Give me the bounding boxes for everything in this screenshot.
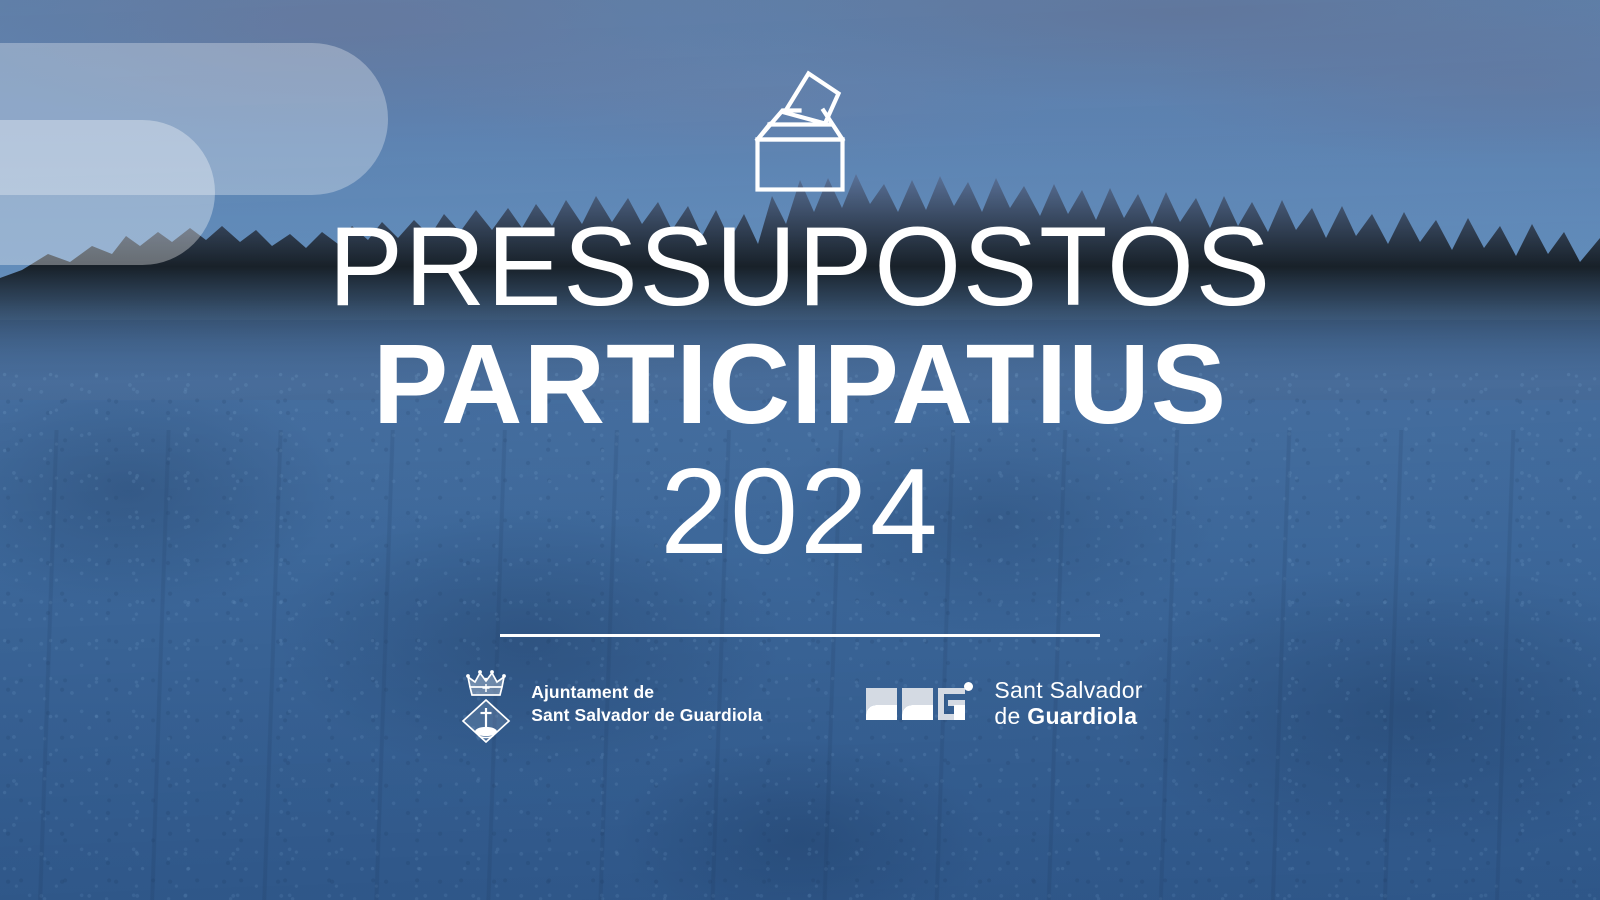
ajuntament-text-line-2: Sant Salvador de Guardiola bbox=[531, 704, 762, 726]
title-line-2: PARTICIPATIUS bbox=[328, 326, 1271, 444]
ajuntament-text-line-1: Ajuntament de bbox=[531, 681, 762, 703]
ssg-text-line-2-light: de bbox=[994, 703, 1027, 729]
ssg-logo: Sant Salvador de Guardiola bbox=[866, 678, 1142, 730]
ssg-logo-text: Sant Salvador de Guardiola bbox=[994, 678, 1142, 730]
ajuntament-crest-icon bbox=[457, 665, 515, 743]
ajuntament-logo-text: Ajuntament de Sant Salvador de Guardiola bbox=[531, 681, 762, 726]
title-line-3-year: 2024 bbox=[328, 450, 1271, 572]
ssg-monogram-icon bbox=[866, 682, 979, 726]
title-line-1: PRESSUPOSTOS bbox=[328, 210, 1271, 324]
ssg-text-line-2-bold: Guardiola bbox=[1027, 703, 1137, 729]
poster-banner: PRESSUPOSTOS PARTICIPATIUS 2024 bbox=[0, 0, 1600, 900]
ballot-box-icon bbox=[739, 66, 861, 194]
ajuntament-logo: Ajuntament de Sant Salvador de Guardiola bbox=[457, 665, 762, 743]
headline-block: PRESSUPOSTOS PARTICIPATIUS 2024 bbox=[328, 210, 1271, 572]
horizontal-rule bbox=[500, 634, 1100, 637]
poster-content: PRESSUPOSTOS PARTICIPATIUS 2024 bbox=[0, 0, 1600, 900]
ssg-text-line-2: de Guardiola bbox=[994, 704, 1142, 730]
ssg-text-line-1: Sant Salvador bbox=[994, 678, 1142, 704]
logo-row: Ajuntament de Sant Salvador de Guardiola bbox=[457, 665, 1143, 743]
